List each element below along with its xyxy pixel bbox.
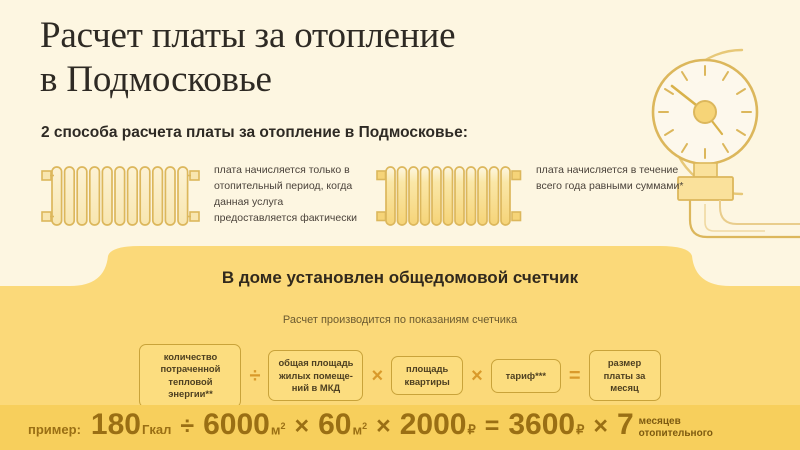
page-subtitle: 2 способа расчета платы за отопление в П… (41, 124, 468, 142)
method-block-partial-year: плата начисляется только в отопительный … (38, 162, 364, 235)
formula-operator-equals: = (568, 366, 582, 386)
formula-operator-multiply: × (470, 366, 484, 386)
example-unit-m2: м2 (271, 421, 286, 437)
example-operator-multiply: × (593, 414, 608, 439)
panel-title: В доме установлен общедомовой счетчик (0, 268, 800, 288)
panel-subtitle: Расчет производится по показаниям счетчи… (0, 314, 800, 326)
infographic-page: Расчет платы за отопление в Подмосковье … (0, 0, 800, 450)
example-formula: пример: 180 Гкал ÷ 6000 м2 × 60 м2 × 200… (28, 410, 713, 450)
example-unit-m2-sup: 2 (280, 421, 285, 431)
example-operator-multiply: × (376, 414, 391, 439)
example-value-flat-area: 60 (318, 410, 351, 440)
formula-box-flat-area: площадь квартиры (391, 356, 463, 395)
method-description: плата начисляется только в отопительный … (214, 162, 364, 227)
example-value-months: 7 (617, 410, 634, 440)
radiator-icon (38, 162, 204, 235)
formula-box-total-area: общая площадь жилых помеще-ний в МКД (268, 350, 363, 401)
formula-row: количество потраченной тепловой энергии*… (0, 344, 800, 408)
example-operator-divide: ÷ (180, 414, 194, 439)
formula-operator-multiply: × (370, 366, 384, 386)
example-months-caption-line-2: отопительного (639, 428, 713, 439)
page-title-line-2: в Подмосковье (40, 58, 640, 102)
radiator-icon (374, 162, 526, 235)
example-unit-gcal: Гкал (142, 422, 171, 437)
method-description: плата начисляется в течение всего года р… (536, 162, 686, 195)
formula-box-result: размер платы за месяц (589, 350, 661, 401)
formula-box-tariff: тариф*** (491, 359, 561, 393)
page-title-line-1: Расчет платы за отопление (40, 14, 640, 58)
formula-operator-divide: ÷ (248, 366, 261, 386)
example-band: пример: 180 Гкал ÷ 6000 м2 × 60 м2 × 200… (0, 405, 800, 450)
example-unit-m2: м2 (352, 421, 367, 437)
example-value-result: 3600 (508, 410, 575, 440)
method-block-full-year: плата начисляется в течение всего года р… (374, 162, 686, 235)
example-unit-m2-sup: 2 (362, 421, 367, 431)
example-operator-equals: = (485, 414, 500, 439)
example-months-caption-line-1: месяцев (639, 416, 681, 427)
example-unit-rub: ₽ (576, 422, 584, 438)
example-unit-rub: ₽ (467, 422, 475, 438)
radiator-filled-svg (374, 162, 526, 230)
example-operator-multiply: × (294, 414, 309, 439)
example-label: пример: (28, 422, 81, 437)
example-value-total-area: 6000 (203, 410, 270, 440)
example-unit-m2-base: м (271, 422, 281, 437)
radiator-empty-svg (38, 162, 204, 230)
example-value-tariff: 2000 (400, 410, 467, 440)
example-value-energy: 180 (91, 410, 141, 440)
formula-box-energy: количество потраченной тепловой энергии*… (139, 344, 241, 408)
example-unit-m2-base: м (352, 422, 362, 437)
page-title: Расчет платы за отопление в Подмосковье (40, 14, 640, 101)
example-months-caption: месяцев отопительного (639, 416, 713, 440)
